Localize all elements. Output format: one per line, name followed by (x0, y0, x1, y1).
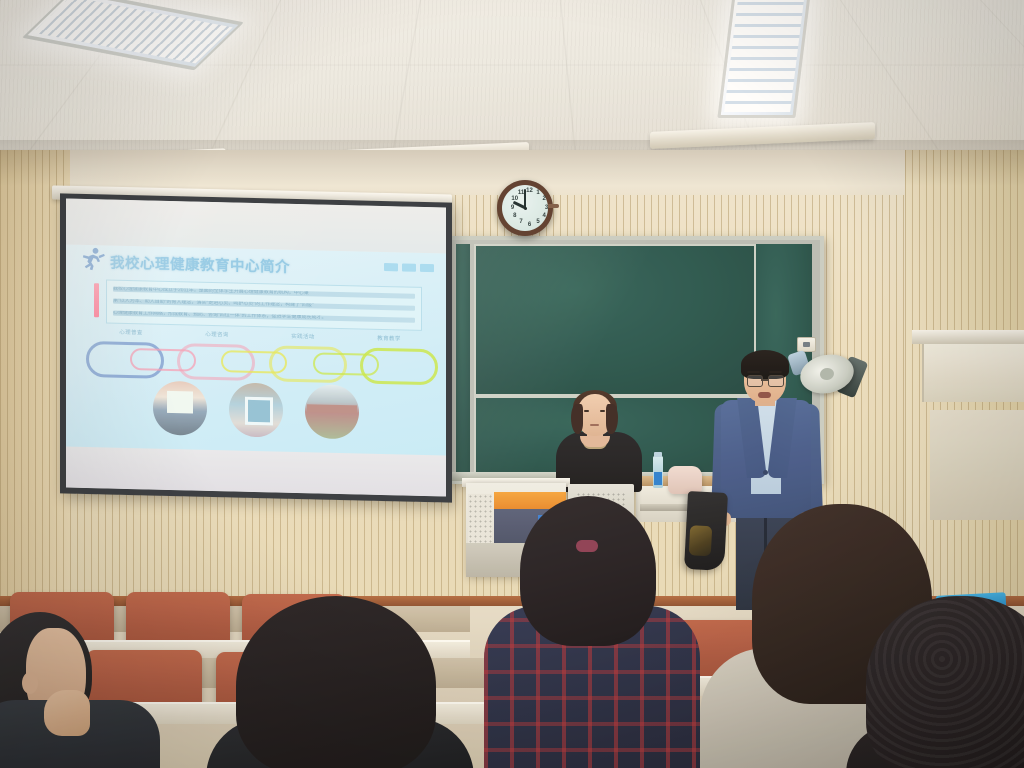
wall-cabinet-upper (922, 344, 1024, 402)
slide-photo-3 (305, 384, 359, 439)
audience-3-hair (520, 496, 656, 646)
clock-face: 121234567891011 (502, 185, 548, 231)
slide-chain-diagram (86, 341, 432, 383)
clock-numeral-9: 9 (508, 204, 517, 213)
slide-photo-2 (229, 382, 283, 437)
clock-center-pin (524, 207, 527, 210)
woman-eye-right (600, 410, 605, 412)
slide-accent-bar (94, 283, 99, 317)
water-bottle-cap (654, 452, 662, 457)
draped-coat (684, 491, 728, 571)
wall-shelf-top (912, 330, 1024, 344)
chalkboard-panel-a (456, 244, 470, 476)
slide-badge-2 (402, 263, 416, 271)
clock-numeral-8: 8 (510, 212, 519, 221)
woman-eye-left (584, 410, 589, 412)
clock-numeral-6: 6 (525, 221, 534, 230)
slide-photo-1 (153, 381, 207, 436)
wall-cabinet-lower (930, 410, 1024, 520)
woman-mouth (590, 424, 599, 426)
wall-clock: 121234567891011 (497, 180, 553, 236)
water-bottle[interactable] (653, 456, 663, 488)
lecture-hall-photo: 121234567891011 我校心理 (0, 0, 1024, 768)
glasses-lens-right-icon (768, 375, 784, 387)
chain-label-2: 心理咨询 (205, 330, 229, 339)
slide-badges (384, 263, 434, 272)
projection-screen: 我校心理健康教育中心简介 我校心理健康教育中心成立于2011年，是面向全体学生开… (60, 193, 452, 502)
slide-photo-row (66, 379, 446, 450)
slide-badge-3 (420, 264, 434, 272)
presentation-slide: 我校心理健康教育中心简介 我校心理健康教育中心成立于2011年，是面向全体学生开… (66, 245, 446, 466)
chain-label-3: 实践活动 (291, 332, 315, 341)
audience-2-hair (236, 596, 436, 768)
running-figure-icon (80, 247, 106, 272)
man-mouth (758, 392, 771, 398)
slide-body-line-1: 我校心理健康教育中心成立于2011年，是面向全体学生开展心理健康教育的机构，中心… (113, 287, 415, 299)
clock-numeral-5: 5 (534, 218, 543, 227)
slide-body-line-2: 承"以人为本、助人自助"的育人理念，落实"走进心灵、呵护心灵"的工作理念，构建了… (113, 299, 415, 311)
wall-top-shadow (0, 150, 1024, 186)
man-blazer-button (763, 470, 768, 475)
glasses-lens-left-icon (747, 375, 763, 387)
clock-numeral-11: 11 (517, 189, 526, 198)
slide-title: 我校心理健康教育中心简介 (110, 252, 290, 277)
coat-lining-pattern (689, 525, 713, 556)
woman-hair-left (571, 404, 583, 434)
slide-body-box: 我校心理健康教育中心成立于2011年，是面向全体学生开展心理健康教育的机构，中心… (106, 279, 422, 330)
slide-body-line-3: 心理健康教育工作网络，形成教育、预防、咨询"四位一体"的工作体系，促进学生健康成… (113, 311, 415, 323)
slide-badge-1 (384, 263, 398, 271)
audience-1-ear (22, 672, 38, 694)
chain-label-4: 教育教学 (377, 334, 401, 343)
woman-necklace (583, 442, 607, 449)
man-eyebrow-left (747, 371, 760, 373)
handbag[interactable] (668, 466, 702, 494)
audience-1-hand (44, 690, 90, 736)
chain-link-4 (360, 347, 438, 385)
screen-surface: 我校心理健康教育中心简介 我校心理健康教育中心成立于2011年，是面向全体学生开… (66, 199, 446, 497)
chain-label-1: 心理普查 (119, 328, 143, 337)
man-eyebrow-right (769, 371, 782, 373)
chalkboard-panel-b (474, 244, 756, 396)
glasses-bridge (761, 379, 768, 381)
audience-3-hair-tie (576, 540, 598, 552)
power-socket[interactable] (797, 337, 816, 352)
ceiling-light-right (717, 0, 810, 118)
